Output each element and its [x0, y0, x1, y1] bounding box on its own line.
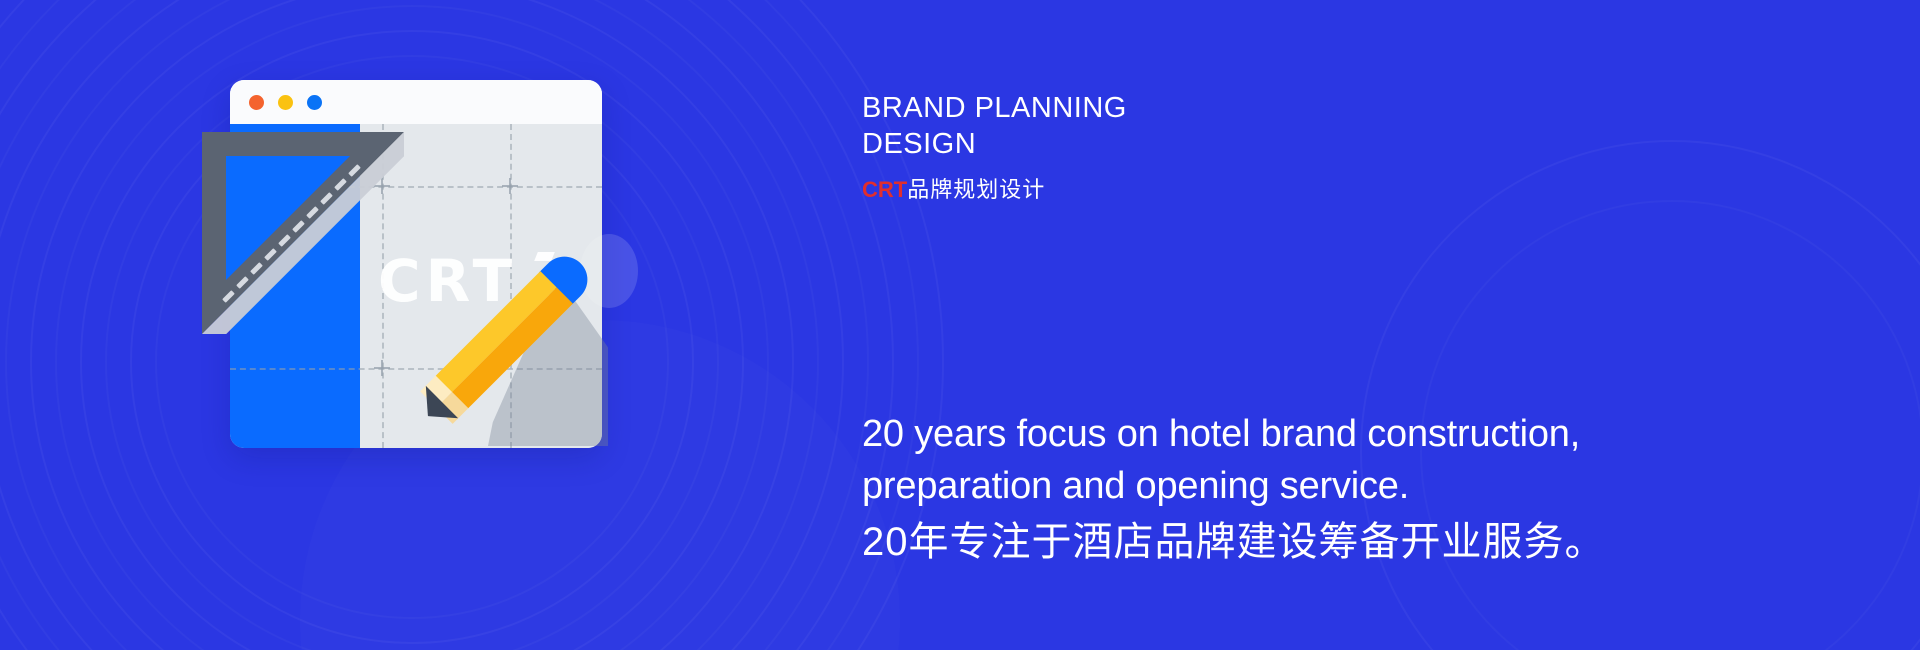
ruler-tick: [306, 206, 319, 219]
guide-crosshair: [502, 178, 518, 194]
banner-kicker: BRAND PLANNING DESIGN: [862, 90, 1422, 162]
ruler-tick-marks: [202, 132, 404, 334]
headline-chinese: 20年专注于酒店品牌建设筹备开业服务。: [862, 513, 1702, 571]
ruler-tick: [334, 178, 347, 191]
ruler-tick: [250, 262, 263, 275]
ruler-tick: [278, 234, 291, 247]
banner-copy: BRAND PLANNING DESIGN CRT品牌规划设计 20 years…: [862, 0, 1762, 650]
triangle-ruler: [202, 132, 404, 334]
kicker-chinese-text: 品牌规划设计: [907, 177, 1045, 202]
guide-crosshair: [374, 360, 390, 376]
ruler-tick: [348, 164, 361, 177]
kicker-line-2: DESIGN: [862, 128, 976, 160]
ruler-tick: [264, 248, 277, 261]
close-dot: [249, 95, 264, 110]
minimize-dot: [278, 95, 293, 110]
headline-english: 20 years focus on hotel brand constructi…: [862, 408, 1702, 512]
ruler-tick: [236, 276, 249, 289]
ruler-tick: [292, 220, 305, 233]
banner-kicker-chinese: CRT品牌规划设计: [862, 172, 1045, 204]
headline-en-line-2: preparation and opening service.: [862, 465, 1409, 507]
maximize-dot: [307, 95, 322, 110]
ruler-tick: [222, 290, 235, 303]
headline-en-line-1: 20 years focus on hotel brand constructi…: [862, 413, 1580, 455]
browser-titlebar: [230, 80, 602, 124]
hero-illustration: CRT: [230, 80, 610, 450]
kicker-line-1: BRAND PLANNING: [862, 92, 1127, 124]
kicker-brand-crt: CRT: [862, 177, 907, 202]
brand-planning-banner: CRT: [0, 0, 1920, 650]
ruler-tick: [320, 192, 333, 205]
